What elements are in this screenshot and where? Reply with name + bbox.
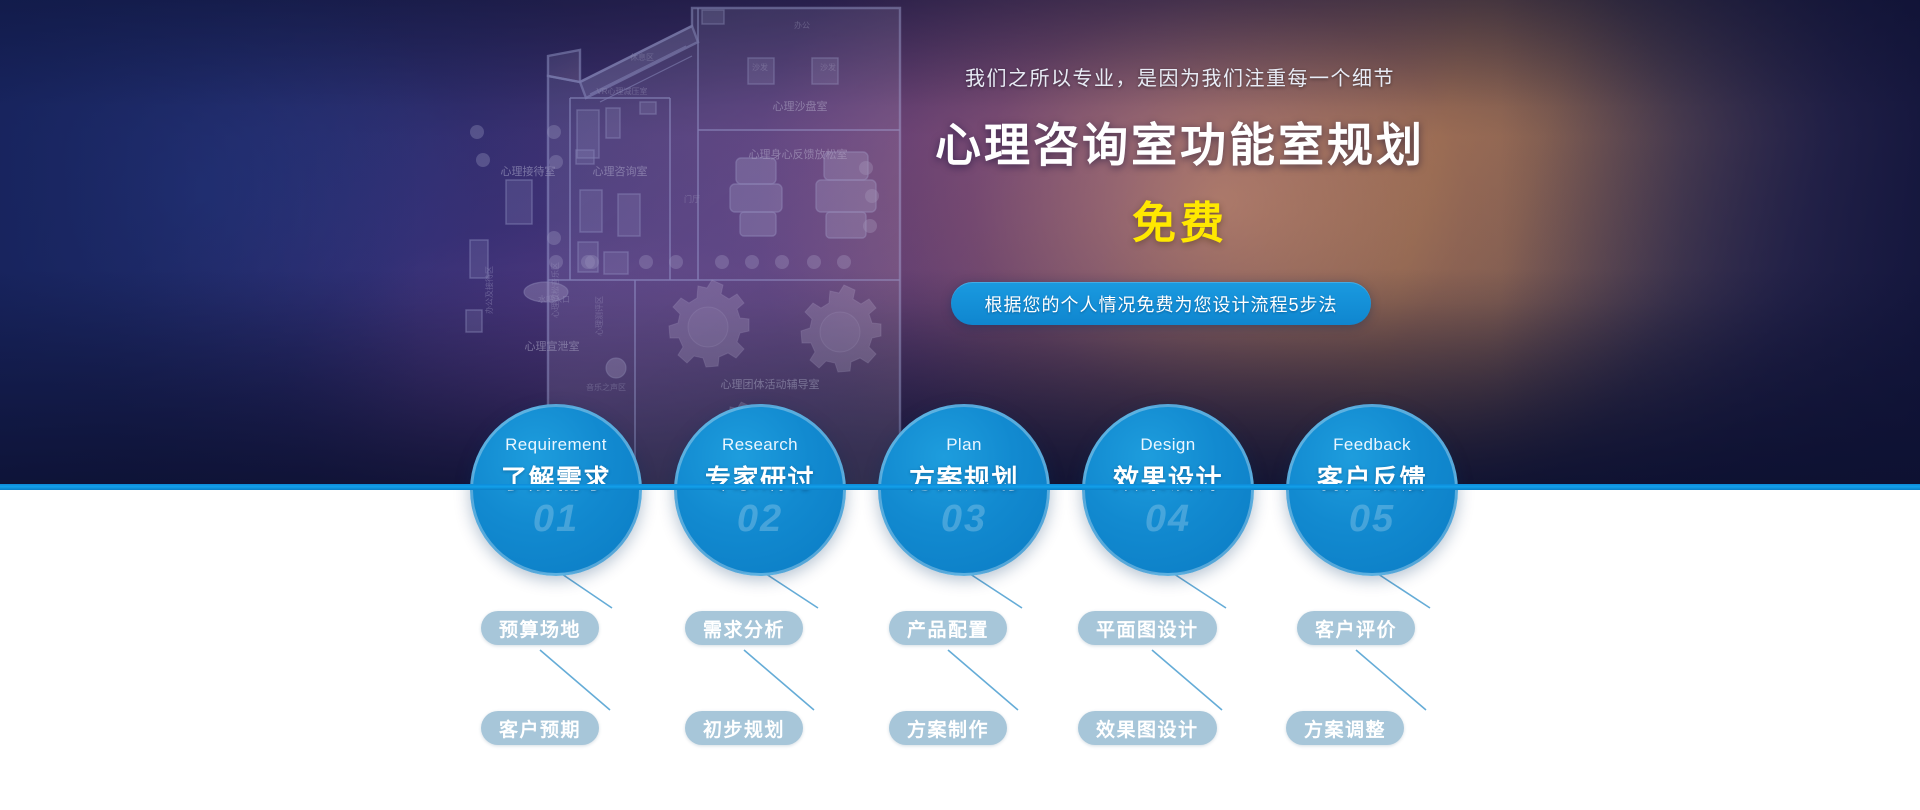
step-number: 03: [941, 498, 987, 541]
step-circle-1[interactable]: Requirement 了解需求 01: [470, 404, 642, 576]
step-tag[interactable]: 平面图设计: [1078, 611, 1217, 645]
step-tag[interactable]: 客户评价: [1297, 611, 1415, 645]
step-tag[interactable]: 效果图设计: [1078, 711, 1217, 745]
step-circle-4[interactable]: Design 效果设计 04: [1082, 404, 1254, 576]
step-cn-label: 客户反馈: [1317, 459, 1427, 496]
step-en-label: Feedback: [1333, 435, 1411, 455]
step-tag[interactable]: 预算场地: [481, 611, 599, 645]
step-tag[interactable]: 需求分析: [685, 611, 803, 645]
step-tag[interactable]: 初步规划: [685, 711, 803, 745]
step-en-label: Requirement: [505, 435, 607, 455]
step-en-label: Design: [1140, 435, 1195, 455]
step-number: 01: [533, 498, 579, 541]
step-cn-label: 方案规划: [909, 459, 1019, 496]
step-tag[interactable]: 客户预期: [481, 711, 599, 745]
process-steps: Requirement 了解需求 01 预算场地 客户预期 Research 专…: [0, 0, 1920, 810]
step-number: 04: [1145, 498, 1191, 541]
step-circle-2[interactable]: Research 专家研讨 02: [674, 404, 846, 576]
step-circle-5[interactable]: Feedback 客户反馈 05: [1286, 404, 1458, 576]
step-cn-label: 专家研讨: [705, 459, 815, 496]
section-divider: [0, 484, 1920, 490]
step-tag[interactable]: 产品配置: [889, 611, 1007, 645]
step-number: 02: [737, 498, 783, 541]
step-en-label: Plan: [946, 435, 982, 455]
step-en-label: Research: [722, 435, 798, 455]
step-cn-label: 效果设计: [1113, 459, 1223, 496]
step-tag[interactable]: 方案调整: [1286, 711, 1404, 745]
step-number: 05: [1349, 498, 1395, 541]
step-tag[interactable]: 方案制作: [889, 711, 1007, 745]
step-cn-label: 了解需求: [501, 459, 611, 496]
step-circle-3[interactable]: Plan 方案规划 03: [878, 404, 1050, 576]
